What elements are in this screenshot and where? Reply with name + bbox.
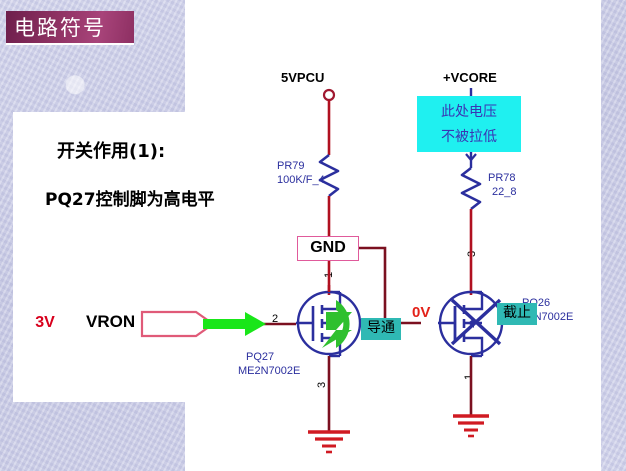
mosfet-right-drain-lead	[464, 292, 482, 309]
current-flow-arrow	[203, 312, 266, 336]
status-chip-cutoff: 截止	[497, 303, 537, 325]
terminal-circle-5vpcu	[324, 90, 334, 100]
net-flag-vron	[142, 312, 213, 336]
status-chip-conducting: 导通	[361, 318, 401, 340]
schematic-layer	[0, 0, 626, 471]
resistor-right-symbol	[462, 168, 480, 209]
resistor-left-symbol	[320, 155, 338, 196]
conduction-swoosh-icon	[322, 300, 352, 348]
slide-canvas: 电路符号 开关作用(1): PQ27控制脚为高电平 5VPCU +VCORE 此…	[0, 0, 626, 471]
wire-gnd-box-to-node-0v	[359, 248, 421, 323]
